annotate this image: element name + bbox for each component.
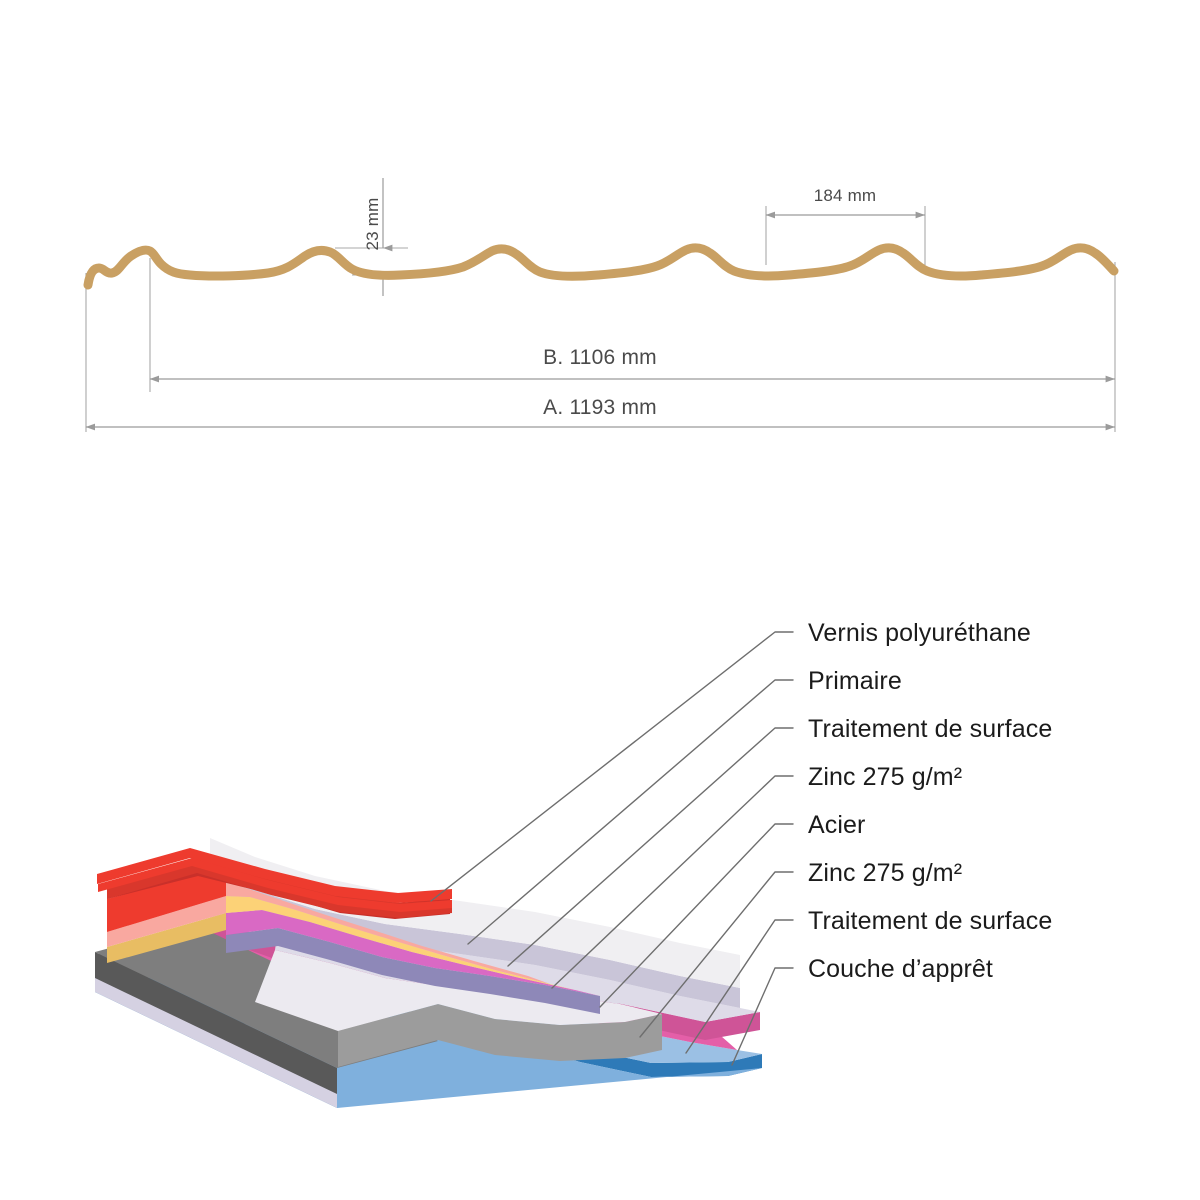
dimension-label-total-width: A. 1193 mm xyxy=(543,396,657,419)
corrugated-profile-line xyxy=(88,248,1114,285)
layer-label-acier: Acier xyxy=(808,811,865,839)
layer-label-zinc-lower: Zinc 275 g/m² xyxy=(808,859,962,887)
leader-line-primaire xyxy=(468,680,793,944)
profile-cross-section-group: 23 mm 184 mm B. 1106 mm A. 1193 mm xyxy=(86,178,1115,432)
layer-label-primaire: Primaire xyxy=(808,667,902,695)
layer-labels-group: Vernis polyuréthane Primaire Traitement … xyxy=(808,619,1052,983)
leader-line-vernis xyxy=(431,632,793,901)
layer-label-traitement-upper: Traitement de surface xyxy=(808,715,1052,743)
layer-label-zinc-upper: Zinc 275 g/m² xyxy=(808,763,962,791)
diagram-canvas: 23 mm 184 mm B. 1106 mm A. 1193 mm xyxy=(0,0,1200,1200)
dimension-label-cover-width: B. 1106 mm xyxy=(543,346,657,369)
full-diagram-svg: 23 mm 184 mm B. 1106 mm A. 1193 mm xyxy=(0,0,1200,1200)
dimension-label-height: 23 mm xyxy=(363,198,382,251)
layer-label-traitement-lower: Traitement de surface xyxy=(808,907,1052,935)
dimension-label-pitch: 184 mm xyxy=(814,186,877,205)
layer-label-vernis: Vernis polyuréthane xyxy=(808,619,1031,647)
layer-stack-group: Vernis polyuréthane Primaire Traitement … xyxy=(95,619,1052,1108)
layer-label-couche-appret: Couche d’apprêt xyxy=(808,955,993,983)
